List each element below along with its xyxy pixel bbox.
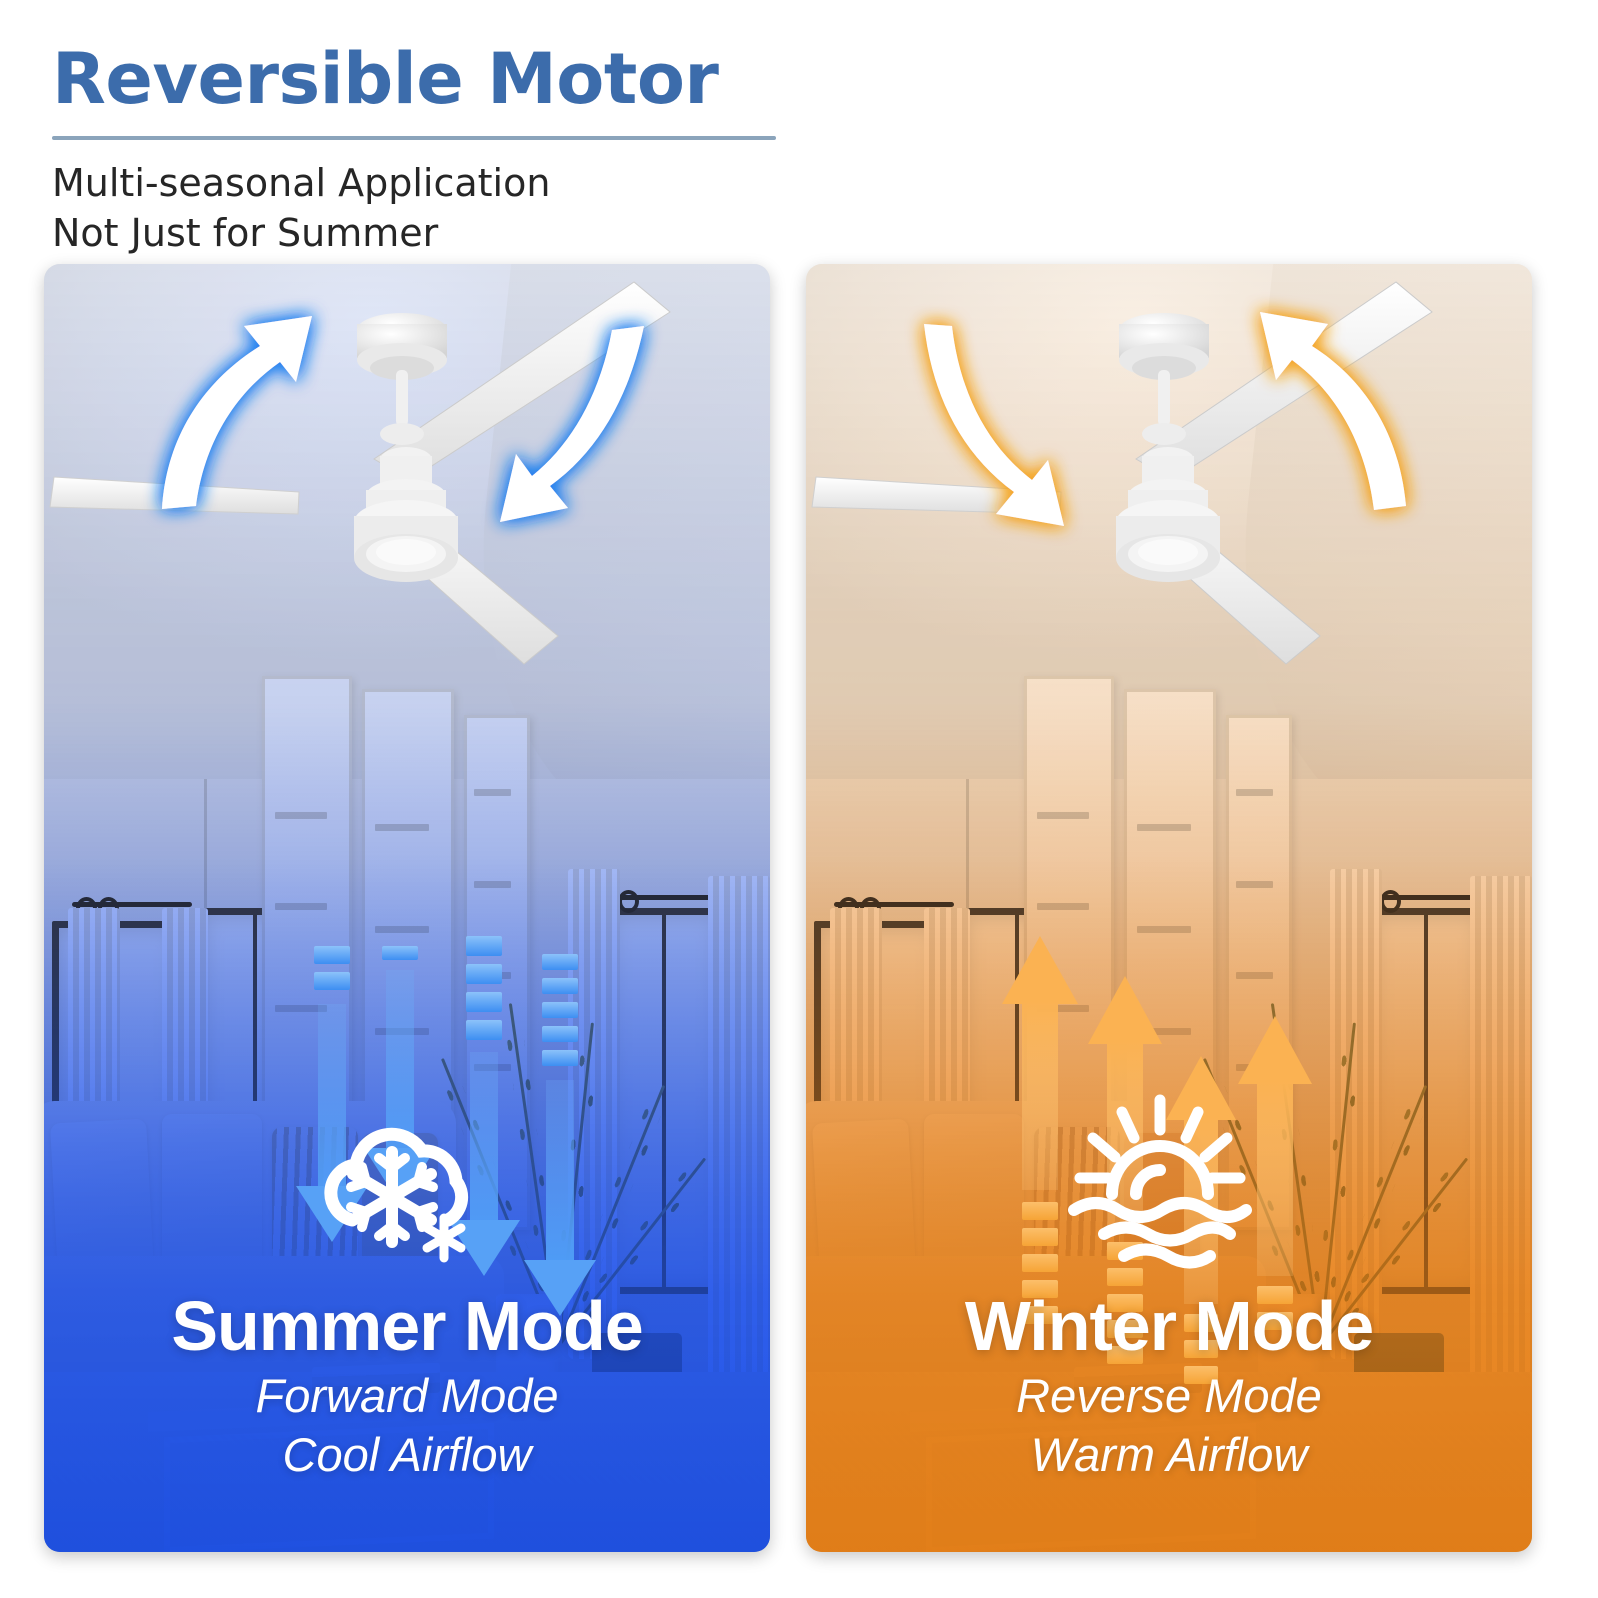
mode-sub-line2-summer: Cool Airflow (44, 1425, 770, 1484)
sun-inner-arc (1136, 1170, 1160, 1194)
mode-sub-line1-summer: Forward Mode (44, 1366, 770, 1425)
cloud-snow-icon (300, 1090, 500, 1270)
snowflake (351, 1152, 433, 1242)
caption-summer: Summer Mode Forward Mode Cool Airflow (44, 1286, 770, 1484)
airflow-column (524, 954, 596, 1316)
subtitle: Multi-seasonal Application Not Just for … (52, 158, 550, 258)
mode-sub-line2-winter: Warm Airflow (806, 1425, 1532, 1484)
subtitle-line-2: Not Just for Summer (52, 208, 550, 258)
mode-title-winter: Winter Mode (806, 1286, 1532, 1366)
mode-title-summer: Summer Mode (44, 1286, 770, 1366)
subtitle-line-1: Multi-seasonal Application (52, 158, 550, 208)
water-waves (1074, 1203, 1246, 1263)
header: Reversible Motor Multi-seasonal Applicat… (0, 0, 1598, 262)
mode-sub-line1-winter: Reverse Mode (806, 1366, 1532, 1425)
title-divider (52, 136, 776, 140)
sunrise-icon (1060, 1090, 1260, 1270)
page-title: Reversible Motor (52, 44, 718, 114)
caption-winter: Winter Mode Reverse Mode Warm Airflow (806, 1286, 1532, 1484)
